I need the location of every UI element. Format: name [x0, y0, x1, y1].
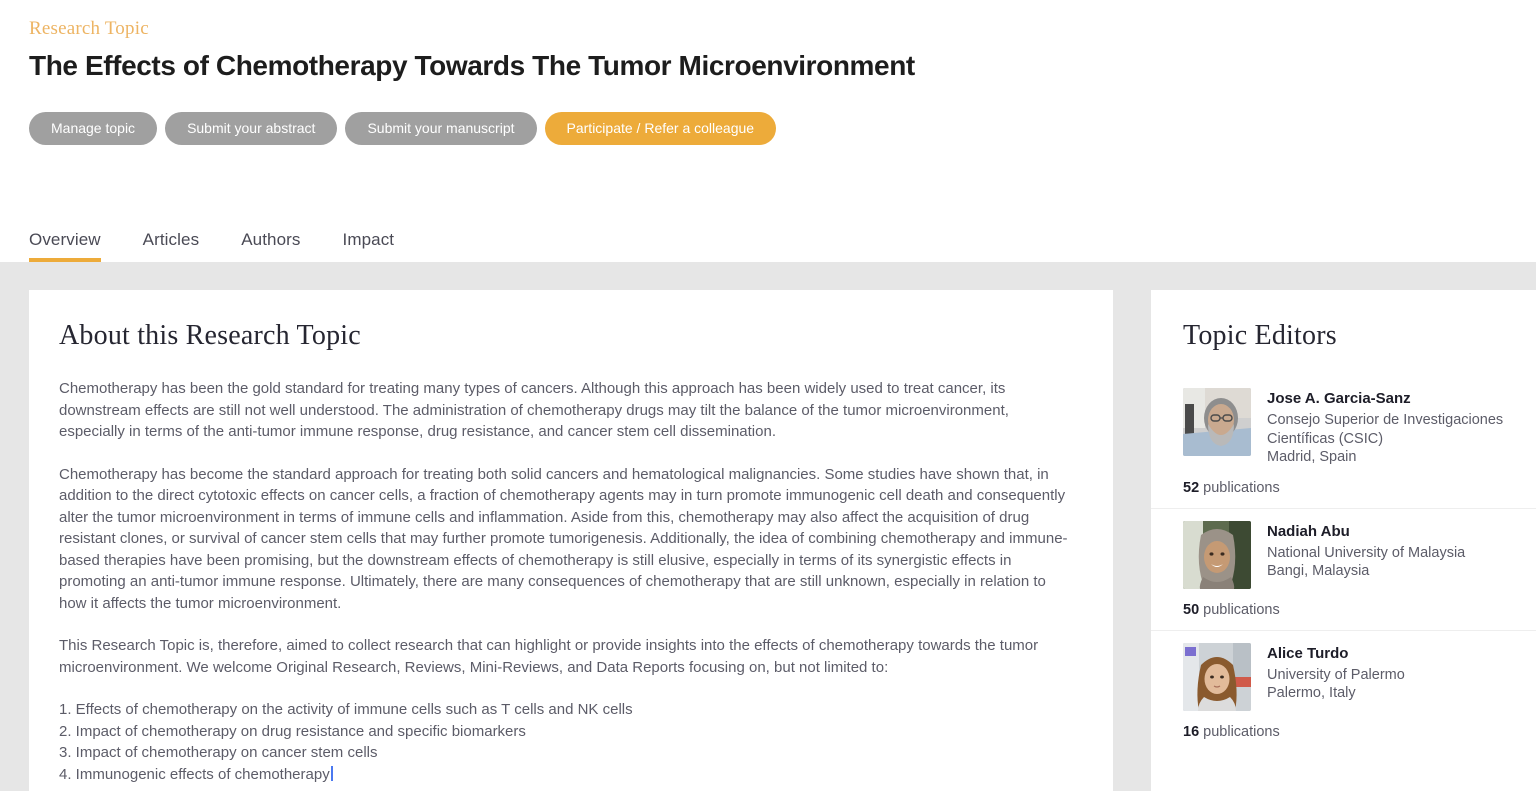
editor-card[interactable]: Alice Turdo University of Palermo Palerm…	[1151, 630, 1536, 752]
editor-card[interactable]: Jose A. Garcia-Sanz Consejo Superior de …	[1151, 376, 1536, 508]
publication-number: 16	[1183, 724, 1199, 740]
publication-label: publications	[1203, 724, 1280, 740]
editor-publication-count: 52 publications	[1183, 480, 1516, 496]
list-item: 4. Immunogenic effects of chemotherapy	[59, 764, 1071, 786]
scope-topic-list: 1. Effects of chemotherapy on the activi…	[59, 699, 1071, 785]
editor-top: Alice Turdo University of Palermo Palerm…	[1183, 643, 1516, 711]
avatar	[1183, 388, 1251, 456]
list-item: 1. Effects of chemotherapy on the activi…	[59, 699, 1071, 721]
editor-location: Palermo, Italy	[1267, 684, 1405, 703]
editor-top: Nadiah Abu National University of Malays…	[1183, 521, 1516, 589]
tab-authors[interactable]: Authors	[241, 230, 320, 262]
publication-number: 52	[1183, 480, 1199, 496]
avatar	[1183, 643, 1251, 711]
breadcrumb-research-topic: Research Topic	[29, 18, 149, 40]
manage-topic-button[interactable]: Manage topic	[29, 112, 157, 145]
topic-editors-heading: Topic Editors	[1151, 320, 1536, 376]
avatar-photo-icon	[1183, 643, 1251, 711]
editor-info: Jose A. Garcia-Sanz Consejo Superior de …	[1267, 388, 1516, 467]
editor-info: Alice Turdo University of Palermo Palerm…	[1267, 643, 1405, 711]
editor-name[interactable]: Jose A. Garcia-Sanz	[1267, 390, 1516, 407]
editor-affiliation: University of Palermo	[1267, 666, 1405, 685]
tab-overview[interactable]: Overview	[29, 230, 121, 262]
editor-info: Nadiah Abu National University of Malays…	[1267, 521, 1465, 589]
list-item: 3. Impact of chemotherapy on cancer stem…	[59, 742, 1071, 764]
list-item-label: 4. Immunogenic effects of chemotherapy	[59, 766, 330, 783]
list-item: 2. Impact of chemotherapy on drug resist…	[59, 721, 1071, 743]
about-paragraph-3: This Research Topic is, therefore, aimed…	[59, 635, 1071, 678]
editor-card[interactable]: Nadiah Abu National University of Malays…	[1151, 508, 1536, 630]
page-header: Research Topic The Effects of Chemothera…	[0, 0, 1536, 262]
about-body: Chemotherapy has been the gold standard …	[59, 378, 1071, 785]
publication-number: 50	[1183, 602, 1199, 618]
page-title: The Effects of Chemotherapy Towards The …	[29, 50, 915, 82]
avatar-photo-icon	[1183, 521, 1251, 589]
text-cursor-caret	[331, 766, 333, 781]
participate-refer-colleague-button[interactable]: Participate / Refer a colleague	[545, 112, 777, 145]
about-heading: About this Research Topic	[59, 320, 1071, 352]
submit-your-abstract-button[interactable]: Submit your abstract	[165, 112, 337, 145]
tab-articles[interactable]: Articles	[143, 230, 220, 262]
editor-location: Bangi, Malaysia	[1267, 562, 1465, 581]
editor-affiliation: Consejo Superior de Investigaciones Cien…	[1267, 411, 1516, 448]
submit-your-manuscript-button[interactable]: Submit your manuscript	[345, 112, 536, 145]
editor-top: Jose A. Garcia-Sanz Consejo Superior de …	[1183, 388, 1516, 467]
editor-affiliation: National University of Malaysia	[1267, 544, 1465, 563]
about-paragraph-1: Chemotherapy has been the gold standard …	[59, 378, 1071, 443]
editor-name[interactable]: Nadiah Abu	[1267, 523, 1465, 540]
avatar	[1183, 521, 1251, 589]
section-tabs: Overview Articles Authors Impact	[29, 230, 414, 262]
avatar-photo-icon	[1183, 388, 1251, 456]
about-paragraph-2: Chemotherapy has become the standard app…	[59, 464, 1071, 615]
content-area: About this Research Topic Chemotherapy h…	[0, 262, 1536, 791]
editor-location: Madrid, Spain	[1267, 448, 1516, 467]
editor-name[interactable]: Alice Turdo	[1267, 645, 1405, 662]
action-button-bar: Manage topic Submit your abstract Submit…	[29, 112, 776, 145]
publication-label: publications	[1203, 602, 1280, 618]
editor-publication-count: 16 publications	[1183, 724, 1516, 740]
about-research-topic-card: About this Research Topic Chemotherapy h…	[29, 290, 1113, 791]
editor-publication-count: 50 publications	[1183, 602, 1516, 618]
tab-impact[interactable]: Impact	[343, 230, 415, 262]
publication-label: publications	[1203, 480, 1280, 496]
topic-editors-panel: Topic Editors	[1151, 290, 1536, 791]
